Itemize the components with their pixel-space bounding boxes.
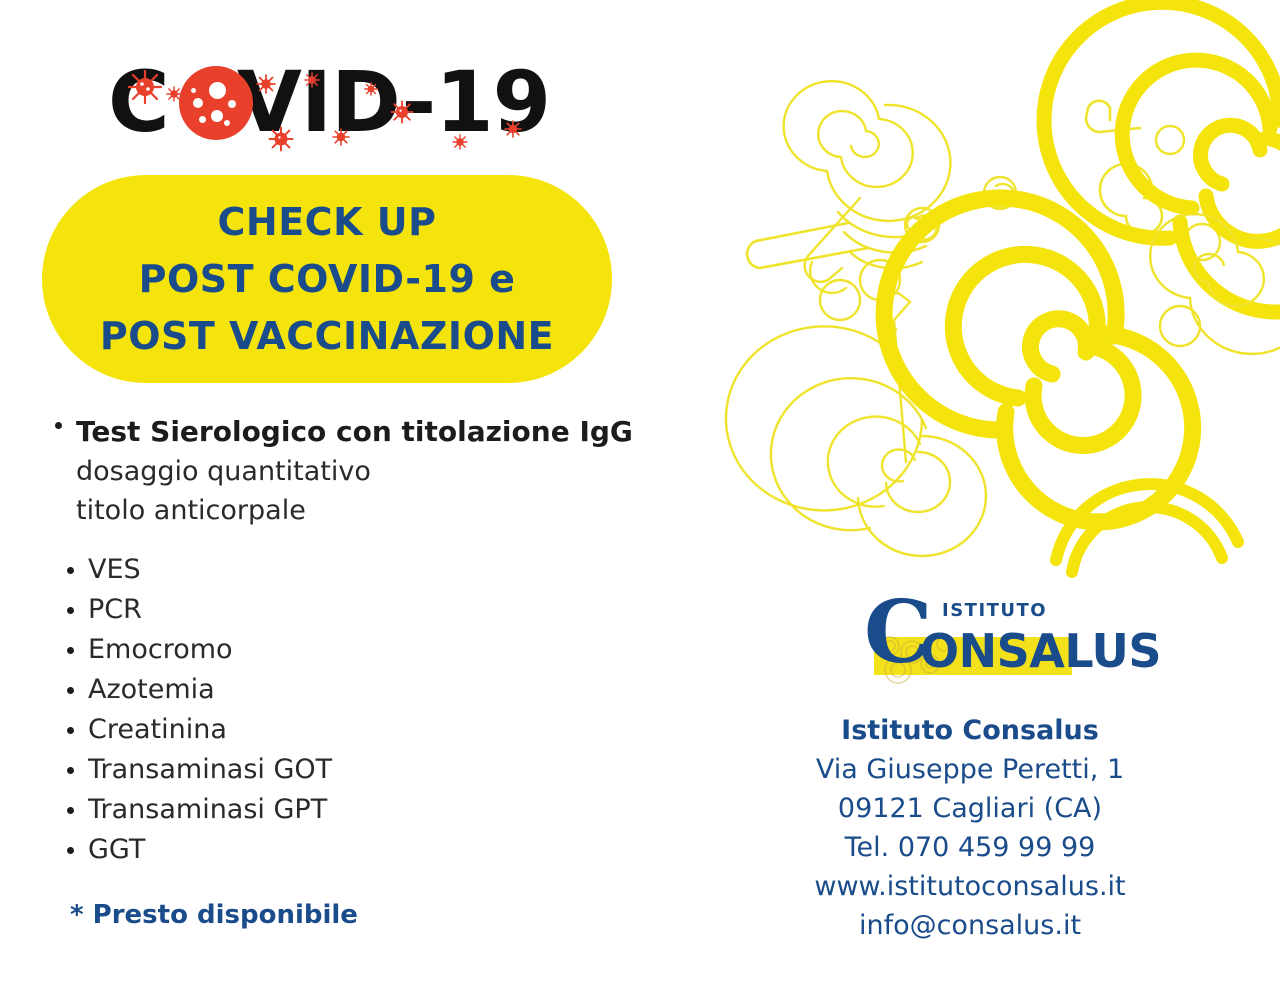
contact-name: Istituto Consalus [760, 712, 1180, 750]
primary-test-sub-2: titolo anticorpale [76, 491, 648, 530]
footnote-text: * Presto disponibile [70, 900, 358, 930]
list-item: VES [60, 550, 648, 590]
secondary-test-list: VES PCR Emocromo Azotemia Creatinina Tra… [48, 550, 648, 870]
covid19-logo: COVID-19 [108, 48, 538, 156]
list-item: Emocromo [60, 630, 648, 670]
list-item-label: Transaminasi GPT [88, 794, 327, 825]
headline-line-3: POST VACCINAZIONE [100, 308, 554, 365]
contact-address: Via Giuseppe Peretti, 1 [760, 750, 1180, 789]
contact-block: Istituto Consalus Via Giuseppe Peretti, … [760, 712, 1180, 945]
list-item-label: Transaminasi GOT [88, 754, 332, 785]
headline-line-2: POST COVID-19 e [139, 251, 516, 308]
list-item: GGT [60, 830, 648, 870]
list-item-label: PCR [88, 594, 142, 625]
list-item: Azotemia [60, 670, 648, 710]
bullet-icon [55, 422, 62, 429]
covid-logo-text: COVID-19 [108, 48, 550, 156]
primary-test-title: Test Sierologico con titolazione IgG [76, 412, 648, 452]
headline-line-1: CHECK UP [218, 194, 437, 251]
list-item-label: Azotemia [88, 674, 215, 705]
bullet-icon [67, 847, 74, 854]
virus-particle-icon [128, 70, 162, 104]
poster-root: COVID-19 [0, 0, 1280, 989]
virus-particle-icon [452, 134, 468, 150]
test-list: Test Sierologico con titolazione IgG dos… [48, 412, 648, 870]
virus-particle-icon [504, 120, 522, 138]
bullet-icon [67, 727, 74, 734]
primary-test-sub-1: dosaggio quantitativo [76, 452, 648, 491]
list-item: Creatinina [60, 710, 648, 750]
virus-particle-icon [390, 100, 414, 124]
bullet-icon [67, 687, 74, 694]
virus-particle-icon [304, 72, 320, 88]
virus-particle-icon [166, 86, 182, 102]
contact-phone[interactable]: Tel. 070 459 99 99 [760, 828, 1180, 867]
contact-email[interactable]: info@consalus.it [760, 906, 1180, 945]
consalus-logo: ISTITUTO C ONSALUS [862, 582, 1072, 687]
virus-particle-icon [332, 128, 350, 146]
bullet-icon [67, 647, 74, 654]
virus-particle-icon [268, 126, 294, 152]
bullet-icon [67, 767, 74, 774]
list-item-label: Creatinina [88, 714, 227, 745]
contact-city: 09121 Cagliari (CA) [760, 789, 1180, 828]
list-item-label: Emocromo [88, 634, 233, 665]
list-item: Transaminasi GOT [60, 750, 648, 790]
logo-onsalus-text: ONSALUS [920, 626, 1161, 676]
bullet-icon [67, 807, 74, 814]
bullet-icon [67, 607, 74, 614]
contact-website[interactable]: www.istitutoconsalus.it [760, 867, 1180, 906]
list-item: Transaminasi GPT [60, 790, 648, 830]
virus-particle-icon [364, 82, 378, 96]
covid-virus-o-icon [179, 66, 253, 140]
logo-istituto-text: ISTITUTO [942, 600, 1047, 621]
virus-particle-icon [256, 74, 276, 94]
list-item-primary: Test Sierologico con titolazione IgG dos… [48, 412, 648, 530]
list-item-label: GGT [88, 834, 145, 865]
list-item: PCR [60, 590, 648, 630]
list-item-label: VES [88, 554, 141, 585]
bullet-icon [67, 567, 74, 574]
decorative-spirals [700, 0, 1280, 580]
headline-banner: CHECK UP POST COVID-19 e POST VACCINAZIO… [42, 175, 612, 383]
